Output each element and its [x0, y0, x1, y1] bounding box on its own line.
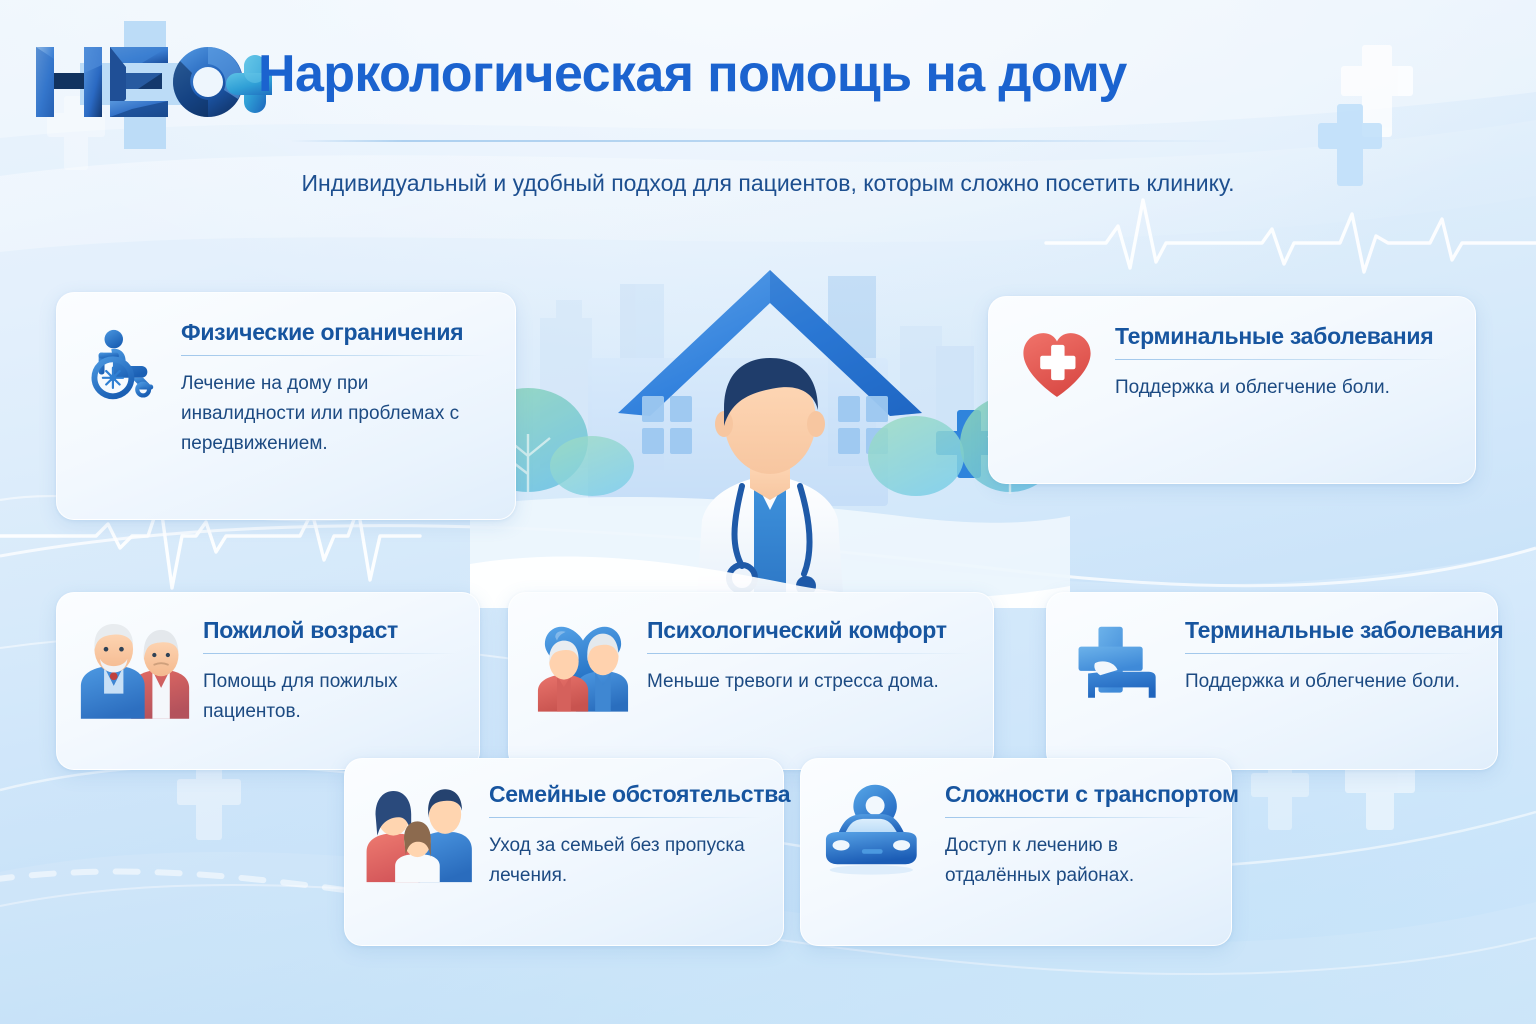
card-divider [945, 817, 1209, 818]
card-description: Поддержка и облегчение боли. [1115, 373, 1451, 403]
card-elderly-age[interactable]: Пожилой возраст Помощь для пожилых пацие… [56, 592, 480, 770]
card-description: Меньше тревоги и стресса дома. [647, 667, 971, 697]
card-family-circumstances[interactable]: Семейные обстоятельства Уход за семьей б… [344, 758, 784, 946]
card-description: Поддержка и облегчение боли. [1185, 667, 1475, 697]
couple-heart-icon [531, 617, 647, 717]
infographic-canvas: Наркологическая помощь на дому Индивидуа… [0, 0, 1536, 1024]
card-title: Терминальные заболевания [1185, 617, 1475, 644]
car-location-pin-icon [819, 781, 945, 885]
card-terminal-illness-bed[interactable]: Терминальные заболевания Поддержка и обл… [1046, 592, 1498, 770]
card-title: Психологический комфорт [647, 617, 971, 644]
card-divider [203, 653, 457, 654]
wheelchair-icon [81, 319, 181, 403]
card-title: Семейные обстоятельства [489, 781, 761, 808]
title-divider [290, 140, 1235, 142]
car-shape [826, 814, 917, 875]
card-title: Физические ограничения [181, 319, 489, 346]
page-subtitle: Индивидуальный и удобный подход для паци… [268, 166, 1268, 201]
card-physical-limitations[interactable]: Физические ограничения Лечение на дому п… [56, 292, 516, 520]
elderly-couple-icon [77, 617, 203, 721]
card-terminal-illness-heart[interactable]: Терминальные заболевания Поддержка и обл… [988, 296, 1476, 484]
card-divider [489, 817, 761, 818]
cross-decor-top-right-1 [1341, 45, 1413, 137]
page-title: Наркологическая помощь на дому [258, 44, 1127, 104]
card-description: Доступ к лечению в отдалённых районах. [945, 831, 1209, 891]
card-divider [181, 355, 489, 356]
tree-right [868, 416, 964, 496]
card-divider [1115, 359, 1451, 360]
heart-cross-icon [1015, 323, 1115, 407]
family-icon [363, 781, 489, 885]
card-divider [647, 653, 971, 654]
card-title: Сложности с транспортом [945, 781, 1209, 808]
doctor-at-home-illustration [470, 248, 1070, 608]
cross-decor-left-mid [177, 760, 241, 840]
tree-left-small [550, 436, 634, 496]
card-description: Уход за семьей без пропуска лечения. [489, 831, 761, 891]
cross-decor-top-right-2 [1318, 104, 1382, 186]
card-divider [1185, 653, 1475, 654]
card-description: Лечение на дому при инвалидности или про… [181, 369, 489, 459]
card-title: Терминальные заболевания [1115, 323, 1451, 350]
ecg-line-top-right [1046, 200, 1536, 272]
card-psychological-comfort[interactable]: Психологический комфорт Меньше тревоги и… [508, 592, 994, 770]
card-transport-difficulties[interactable]: Сложности с транспортом Доступ к лечению… [800, 758, 1232, 946]
brand-logo[interactable] [22, 33, 272, 143]
hospital-bed-cross-icon [1069, 617, 1185, 717]
logo-wordmark-icon [22, 39, 272, 129]
card-title: Пожилой возраст [203, 617, 457, 644]
card-description: Помощь для пожилых пациентов. [203, 667, 457, 727]
